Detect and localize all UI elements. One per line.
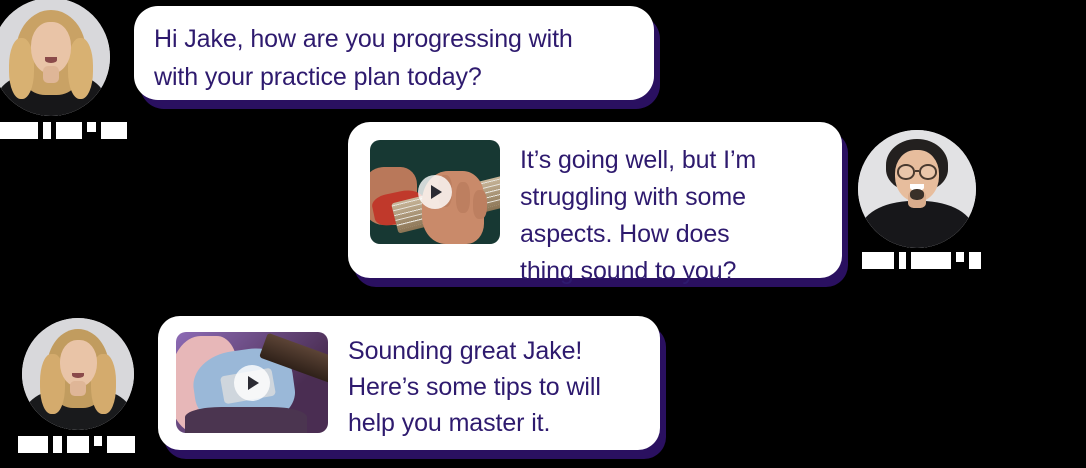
play-icon[interactable]	[234, 365, 270, 401]
bubble-content: Sounding great Jake! Here’s some tips to…	[158, 316, 660, 450]
participant-name-label	[18, 436, 135, 453]
participant-name-label	[862, 252, 981, 269]
avatar-portrait	[22, 318, 134, 430]
participant-name-label	[0, 122, 127, 139]
avatar-woman-blonde[interactable]	[0, 0, 110, 116]
play-triangle	[431, 185, 442, 199]
video-thumbnail-message-2[interactable]	[370, 140, 500, 244]
bubble-content: Hi Jake, how are you progressing with wi…	[134, 6, 654, 100]
message-text: Sounding great Jake! Here’s some tips to…	[348, 332, 601, 441]
video-thumbnail-message-3[interactable]	[176, 332, 328, 433]
chat-bubble-message-3[interactable]: Sounding great Jake! Here’s some tips to…	[158, 316, 660, 450]
participant-student-jake	[858, 130, 976, 248]
play-triangle	[248, 376, 259, 390]
participant-teacher-bottom	[22, 318, 134, 430]
message-text: It’s going well, but I’m struggling with…	[520, 140, 756, 290]
avatar-portrait	[0, 0, 110, 116]
chat-bubble-message-1[interactable]: Hi Jake, how are you progressing with wi…	[134, 6, 654, 100]
chat-bubble-message-2[interactable]: It’s going well, but I’m struggling with…	[348, 122, 842, 278]
play-icon[interactable]	[418, 175, 452, 209]
bubble-content: It’s going well, but I’m struggling with…	[348, 122, 842, 278]
chat-mockup-canvas: Hi Jake, how are you progressing with wi…	[0, 0, 1086, 468]
avatar-portrait	[858, 130, 976, 248]
participant-teacher-top	[0, 0, 110, 116]
avatar-woman-blonde[interactable]	[22, 318, 134, 430]
avatar-man-glasses[interactable]	[858, 130, 976, 248]
message-text: Hi Jake, how are you progressing with wi…	[154, 20, 573, 96]
